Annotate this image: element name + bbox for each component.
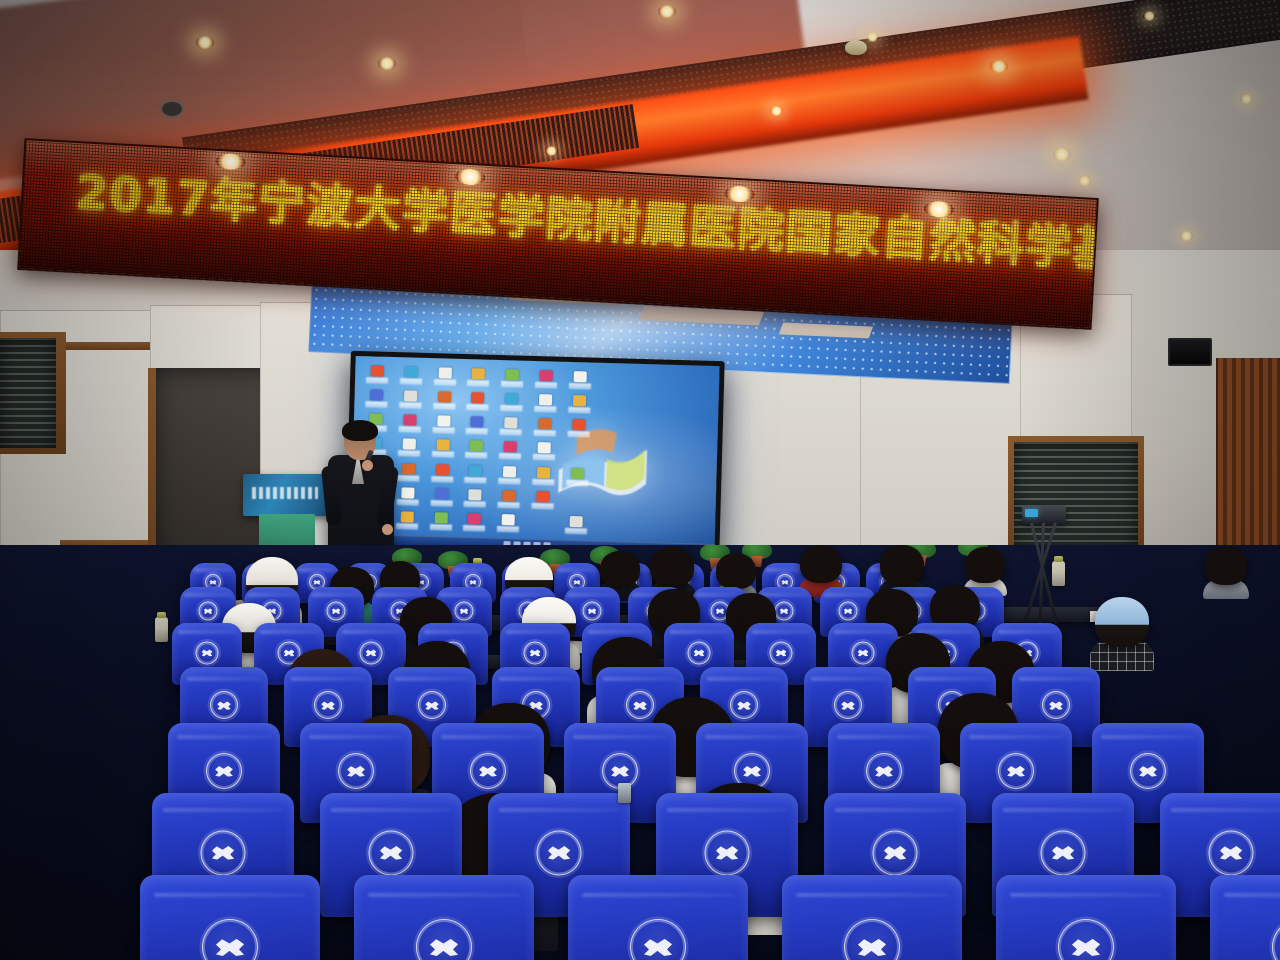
seat-emblem bbox=[314, 691, 342, 719]
seat-emblem bbox=[844, 919, 900, 960]
seat-emblem bbox=[1042, 691, 1070, 719]
seat-emblem bbox=[839, 602, 858, 621]
ceiling-downlight-icon bbox=[1143, 11, 1156, 21]
desktop-icon[interactable] bbox=[495, 390, 528, 414]
desktop-icon[interactable] bbox=[529, 367, 562, 391]
seat-emblem bbox=[196, 641, 219, 664]
seat-emblem bbox=[455, 602, 474, 621]
seat-crease bbox=[187, 677, 261, 681]
seat-crease bbox=[1171, 808, 1280, 812]
seat-crease bbox=[752, 630, 811, 634]
seat-crease bbox=[998, 630, 1057, 634]
seating-area bbox=[0, 545, 1280, 960]
desktop-icon[interactable] bbox=[527, 463, 560, 487]
seat-crease bbox=[441, 735, 535, 739]
desktop-icon[interactable] bbox=[426, 461, 459, 485]
wall-monitor bbox=[1168, 338, 1212, 366]
presenter-hair bbox=[342, 420, 378, 441]
audience-head bbox=[600, 551, 640, 587]
seat-emblem bbox=[998, 753, 1034, 789]
seat-emblem bbox=[626, 691, 654, 719]
seat-crease bbox=[163, 808, 282, 812]
desktop-icon[interactable] bbox=[494, 414, 527, 438]
seat-emblem bbox=[327, 602, 346, 621]
ceiling-downlight-icon bbox=[378, 57, 396, 70]
seat-emblem bbox=[338, 753, 374, 789]
seat-crease bbox=[298, 568, 337, 572]
desktop-icon[interactable] bbox=[563, 368, 596, 392]
desktop-icon[interactable] bbox=[492, 487, 525, 511]
desktop-icon[interactable] bbox=[459, 461, 492, 485]
thermos-flask bbox=[155, 617, 168, 642]
desktop-icon[interactable] bbox=[560, 464, 593, 488]
seat-crease bbox=[454, 568, 493, 572]
desktop-icon[interactable] bbox=[426, 436, 459, 460]
seat-crease bbox=[837, 735, 931, 739]
seat-crease bbox=[499, 808, 618, 812]
desktop-icon[interactable] bbox=[459, 486, 492, 510]
seat-emblem bbox=[688, 641, 711, 664]
desktop-icon[interactable] bbox=[424, 509, 457, 533]
audience-head bbox=[880, 545, 924, 585]
podium-logo-text bbox=[252, 487, 318, 499]
audience-head bbox=[716, 553, 756, 589]
seat-crease bbox=[424, 630, 483, 634]
seat-crease bbox=[705, 735, 799, 739]
seat-emblem bbox=[705, 830, 750, 875]
seat-crease bbox=[582, 893, 733, 897]
desktop-icon[interactable] bbox=[427, 412, 460, 436]
auditorium-seat[interactable] bbox=[996, 875, 1176, 960]
seat-crease bbox=[824, 593, 871, 597]
seat-crease bbox=[154, 893, 305, 897]
desktop-icon[interactable] bbox=[360, 386, 393, 410]
audience-head bbox=[800, 545, 842, 583]
seat-emblem bbox=[360, 641, 383, 664]
desktop-icon[interactable] bbox=[428, 364, 461, 388]
auditorium-seat[interactable] bbox=[782, 875, 962, 960]
seat-emblem bbox=[416, 919, 472, 960]
presenter-hand bbox=[362, 460, 373, 471]
seat-crease bbox=[558, 568, 597, 572]
seat-crease bbox=[440, 593, 487, 597]
audience-head bbox=[965, 547, 1005, 583]
auditorium-seat[interactable] bbox=[140, 875, 320, 960]
desktop-icon[interactable] bbox=[461, 389, 494, 413]
seat-emblem bbox=[866, 753, 902, 789]
desktop-icon[interactable] bbox=[528, 415, 561, 439]
seat-emblem bbox=[210, 691, 238, 719]
seat-crease bbox=[670, 630, 729, 634]
seat-crease bbox=[178, 630, 237, 634]
seat-emblem bbox=[1058, 919, 1114, 960]
seat-emblem bbox=[1041, 830, 1086, 875]
seat-crease bbox=[1019, 677, 1093, 681]
desktop-icon[interactable] bbox=[425, 485, 458, 509]
seat-crease bbox=[499, 677, 573, 681]
seat-crease bbox=[260, 630, 319, 634]
desktop-icon[interactable] bbox=[562, 392, 595, 416]
auditorium-seat[interactable] bbox=[354, 875, 534, 960]
seat-crease bbox=[1224, 893, 1280, 897]
desktop-icon[interactable] bbox=[496, 366, 529, 390]
seat-crease bbox=[667, 808, 786, 812]
seat-crease bbox=[342, 630, 401, 634]
seat-emblem bbox=[775, 602, 794, 621]
seat-crease bbox=[177, 735, 271, 739]
ceiling-downlight-icon bbox=[990, 60, 1008, 73]
seat-crease bbox=[1003, 808, 1122, 812]
seat-crease bbox=[588, 630, 647, 634]
seat-crease bbox=[312, 593, 359, 597]
audience-head bbox=[650, 547, 694, 587]
seat-crease bbox=[331, 808, 450, 812]
projection-screen[interactable] bbox=[345, 351, 724, 561]
desktop-icon[interactable] bbox=[361, 362, 394, 386]
presenter-hand bbox=[382, 524, 393, 535]
seat-crease bbox=[568, 593, 615, 597]
seat-crease bbox=[291, 677, 365, 681]
seat-crease bbox=[707, 677, 781, 681]
podium-top bbox=[243, 474, 331, 516]
seat-emblem bbox=[630, 919, 686, 960]
seat-crease bbox=[796, 893, 947, 897]
ceiling-downlight-icon bbox=[1240, 94, 1253, 104]
seat-crease bbox=[376, 593, 423, 597]
ceiling-downlight-icon bbox=[196, 36, 214, 49]
seat-emblem bbox=[470, 753, 506, 789]
seat-crease bbox=[835, 808, 954, 812]
desktop-icon[interactable] bbox=[428, 388, 461, 412]
seat-crease bbox=[766, 568, 805, 572]
desktop-icon[interactable] bbox=[493, 462, 526, 486]
desktop-icon[interactable] bbox=[460, 437, 493, 461]
desktop-icon[interactable] bbox=[562, 416, 595, 440]
seat-emblem bbox=[583, 602, 602, 621]
seat-emblem bbox=[369, 830, 414, 875]
mobile-phone bbox=[618, 783, 631, 803]
seat-crease bbox=[811, 677, 885, 681]
seat-emblem bbox=[770, 641, 793, 664]
desktop-icon[interactable] bbox=[494, 438, 527, 462]
seat-emblem bbox=[852, 641, 875, 664]
auditorium-seat[interactable] bbox=[1210, 875, 1280, 960]
seat-crease bbox=[194, 568, 233, 572]
seat-emblem bbox=[834, 691, 862, 719]
ceiling-downlight-icon bbox=[545, 146, 558, 156]
auditorium-photo: 2017年宁波大学医学院附属医院国家自然科学基金申报辅导会 bbox=[0, 0, 1280, 960]
seat-crease bbox=[309, 735, 403, 739]
seat-crease bbox=[184, 593, 231, 597]
seat-crease bbox=[1010, 893, 1161, 897]
seat-emblem bbox=[537, 830, 582, 875]
seat-crease bbox=[395, 677, 469, 681]
seat-crease bbox=[368, 893, 519, 897]
smoke-detector-icon bbox=[845, 40, 867, 55]
ceiling-downlight-icon bbox=[1078, 176, 1091, 186]
seat-crease bbox=[506, 630, 565, 634]
seat-emblem bbox=[1209, 830, 1254, 875]
desktop-icon[interactable] bbox=[492, 511, 525, 535]
desktop-icon[interactable] bbox=[529, 391, 562, 415]
desktop-icon[interactable] bbox=[458, 510, 491, 534]
desktop-icon[interactable] bbox=[394, 387, 427, 411]
seat-emblem bbox=[524, 641, 547, 664]
desktop-icon[interactable] bbox=[395, 363, 428, 387]
seat-crease bbox=[915, 677, 989, 681]
seat-crease bbox=[603, 677, 677, 681]
video-camera-icon bbox=[1022, 505, 1066, 524]
ceiling-downlight-icon bbox=[866, 32, 879, 42]
seat-crease bbox=[1101, 735, 1195, 739]
seat-crease bbox=[248, 593, 295, 597]
seat-emblem bbox=[199, 602, 218, 621]
seat-crease bbox=[760, 593, 807, 597]
seat-emblem bbox=[202, 919, 258, 960]
seat-emblem bbox=[873, 830, 918, 875]
audience-head bbox=[1095, 597, 1149, 647]
seat-emblem bbox=[201, 830, 246, 875]
seat-crease bbox=[969, 735, 1063, 739]
seat-crease bbox=[573, 735, 667, 739]
desktop-icon[interactable] bbox=[461, 413, 494, 437]
seat-emblem bbox=[418, 691, 446, 719]
seat-emblem bbox=[206, 753, 242, 789]
desktop-icon[interactable] bbox=[559, 513, 592, 537]
camera-tripod bbox=[1012, 505, 1082, 625]
ceiling-downlight-icon bbox=[658, 5, 676, 18]
desktop-icon[interactable] bbox=[462, 365, 495, 389]
window-blinds bbox=[0, 338, 56, 448]
desktop-icon[interactable] bbox=[526, 487, 559, 511]
seat-crease bbox=[834, 630, 893, 634]
ceiling-downlight-icon bbox=[1053, 148, 1071, 161]
desktop-icon[interactable] bbox=[527, 439, 560, 463]
seat-emblem bbox=[1130, 753, 1166, 789]
ceiling-downlight-icon bbox=[770, 106, 783, 116]
audience-head bbox=[1205, 547, 1247, 585]
screen-surface bbox=[350, 356, 719, 556]
ceiling-vent-icon bbox=[160, 100, 184, 118]
auditorium-seat[interactable] bbox=[568, 875, 748, 960]
ceiling-downlight-icon bbox=[1180, 231, 1193, 241]
seat-emblem bbox=[730, 691, 758, 719]
seat-emblem bbox=[1272, 919, 1280, 960]
